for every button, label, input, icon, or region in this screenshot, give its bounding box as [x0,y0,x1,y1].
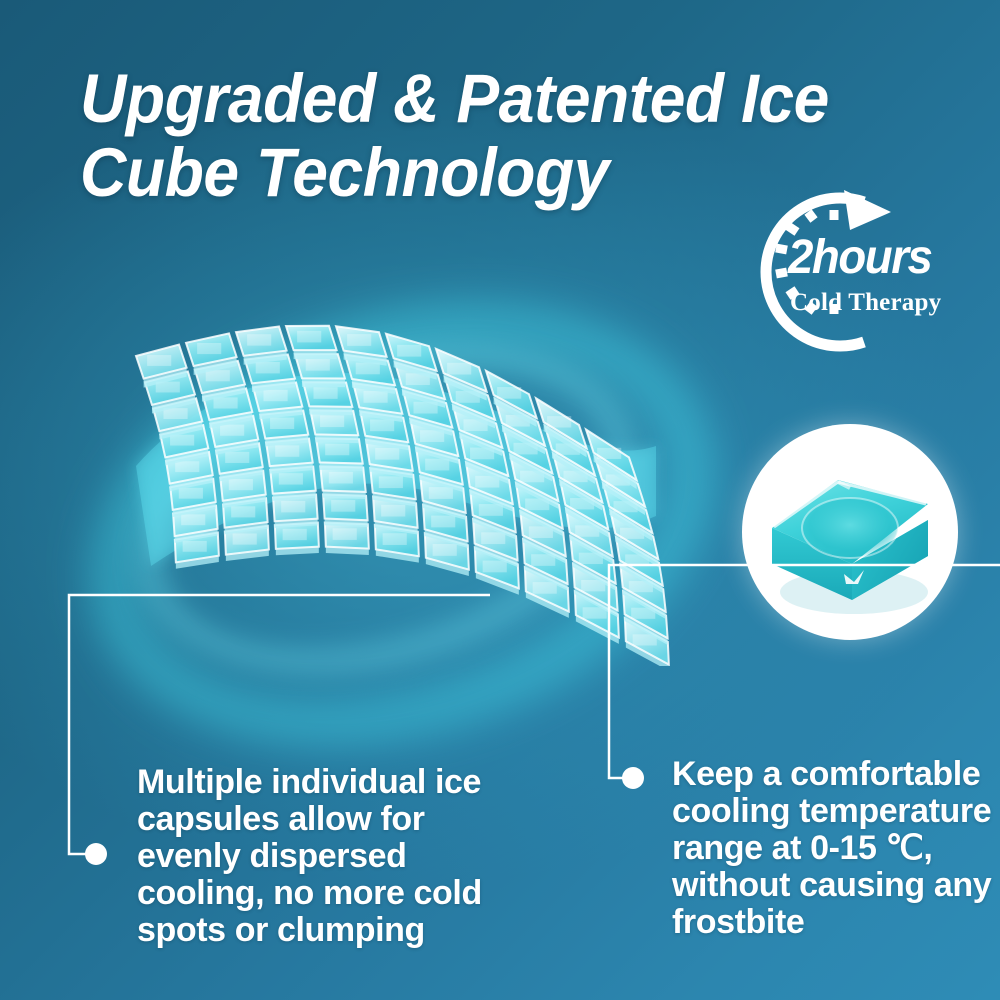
callout-dot [622,767,644,789]
callout-ice-capsules: Multiple individual ice capsules allow f… [60,586,490,946]
callout-temperature-range: Keep a comfortable cooling temperature r… [600,556,1000,946]
badge-duration: 2hours [788,234,931,282]
badge-subtitle: Cold Therapy [790,290,941,315]
cold-therapy-badge: 2hours Cold Therapy [726,186,966,356]
callout-right-text: Keep a comfortable cooling temperature r… [672,756,1000,941]
callout-dot [85,843,107,865]
product-infographic: Upgraded & Patented Ice Cube Technology … [0,0,1000,1000]
callout-left-text: Multiple individual ice capsules allow f… [137,764,487,949]
